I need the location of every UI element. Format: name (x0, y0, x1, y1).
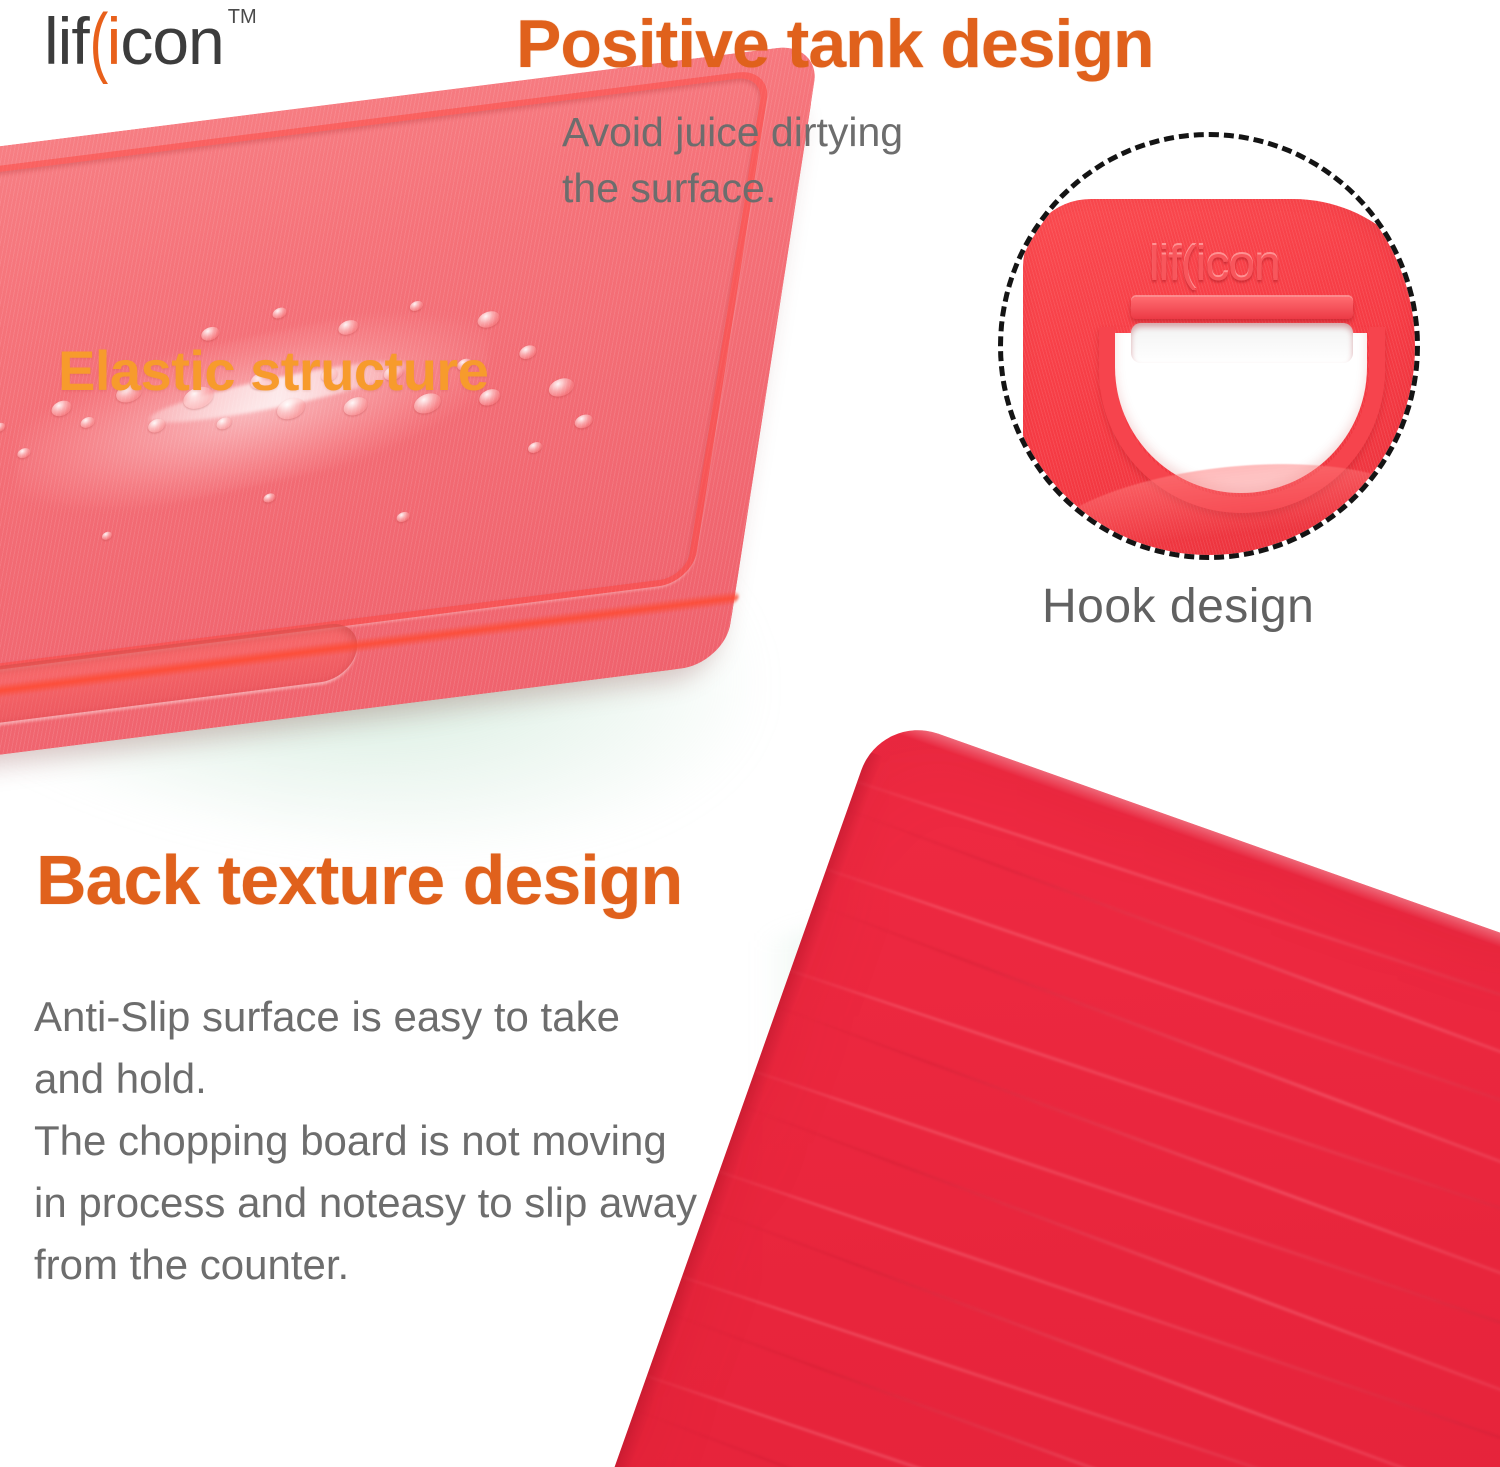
anti-slip-wave (631, 1298, 1500, 1467)
trademark-symbol: TM (228, 6, 257, 28)
logo-paren-icon: ( (89, 2, 107, 80)
caption-hook-design: Hook design (1042, 578, 1314, 636)
anti-slip-wave (573, 1462, 1500, 1467)
product-infographic: lif(icon lif(iconTM Positive tank design… (0, 0, 1500, 1467)
brand-logo: lif(iconTM (44, 2, 257, 74)
heading-positive-tank-design: Positive tank design (516, 6, 1154, 82)
heading-back-texture-design: Back texture design (36, 840, 682, 920)
anti-slip-wave (809, 795, 1500, 1186)
logo-text-con: con (120, 4, 223, 78)
anti-slip-wave (704, 1091, 1500, 1467)
cutting-board-back-texture-image (744, 690, 1500, 1467)
label-elastic-structure: Elastic structure (58, 338, 488, 404)
anti-slip-wave (716, 1057, 1500, 1417)
anti-slip-wave (740, 992, 1500, 1382)
subtitle-positive-tank-design: Avoid juice dirtying the surface. (562, 104, 903, 216)
anti-slip-wave (681, 1157, 1500, 1467)
dashed-circle-outline (998, 132, 1420, 560)
logo-letter-i: i (107, 4, 121, 78)
hook-detail-callout: lif(icon (998, 132, 1420, 560)
logo-text-lif: lif (44, 4, 89, 78)
paragraph-back-texture-design: Anti-Slip surface is easy to take and ho… (34, 986, 794, 1296)
